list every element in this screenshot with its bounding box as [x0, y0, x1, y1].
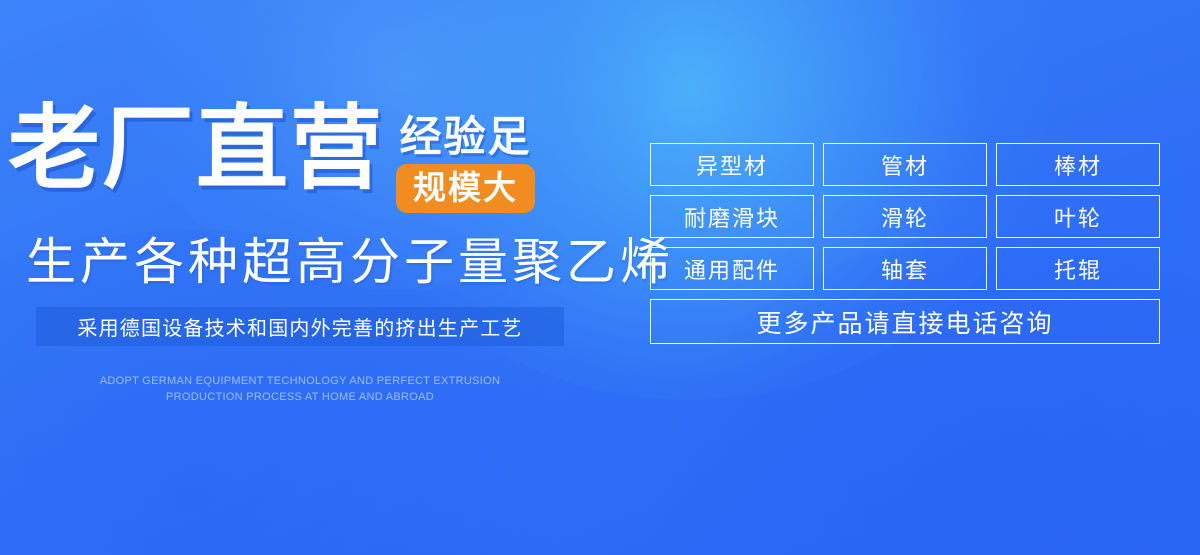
contact-cta-label: 更多产品请直接电话咨询 — [756, 304, 1053, 340]
product-row: 耐磨滑块 滑轮 叶轮 — [650, 195, 1160, 238]
product-chip-2-1[interactable]: 轴套 — [823, 247, 987, 290]
product-chip-label: 轴套 — [881, 253, 929, 285]
product-grid: 异型材 管材 棒材 耐磨滑块 滑轮 叶轮 通用配件 — [650, 143, 1160, 344]
product-row: 异型材 管材 棒材 — [650, 143, 1160, 186]
product-chip-2-0[interactable]: 通用配件 — [650, 247, 814, 290]
product-chip-label: 滑轮 — [881, 201, 929, 233]
product-chip-1-2[interactable]: 叶轮 — [996, 195, 1160, 238]
product-chip-label: 耐磨滑块 — [684, 201, 780, 233]
headline-main: 老厂直营 — [8, 104, 384, 194]
badge-experience: 经验足 — [400, 116, 532, 158]
product-chip-0-1[interactable]: 管材 — [823, 143, 987, 186]
product-row: 通用配件 轴套 托辊 — [650, 247, 1160, 290]
product-chip-1-0[interactable]: 耐磨滑块 — [650, 195, 814, 238]
english-subtitle-line-1: ADOPT GERMAN EQUIPMENT TECHNOLOGY AND PE… — [36, 374, 564, 390]
product-chip-label: 异型材 — [696, 149, 768, 181]
product-chip-0-2[interactable]: 棒材 — [996, 143, 1160, 186]
product-chip-label: 棒材 — [1054, 149, 1102, 181]
promo-banner: 老厂直营 经验足 规模大 生产各种超高分子量聚乙烯 采用德国设备技术和国内外完善… — [0, 0, 1200, 555]
product-chip-1-1[interactable]: 滑轮 — [823, 195, 987, 238]
tagline-band: 采用德国设备技术和国内外完善的挤出生产工艺 — [36, 307, 564, 346]
product-chip-0-0[interactable]: 异型材 — [650, 143, 814, 186]
product-chip-2-2[interactable]: 托辊 — [996, 247, 1160, 290]
headline-row: 老厂直营 经验足 规模大 — [8, 104, 535, 213]
english-subtitle-line-2: PRODUCTION PROCESS AT HOME AND ABROAD — [36, 390, 564, 406]
product-chip-label: 通用配件 — [684, 253, 780, 285]
product-chip-label: 管材 — [881, 149, 929, 181]
english-subtitle: ADOPT GERMAN EQUIPMENT TECHNOLOGY AND PE… — [36, 374, 564, 406]
headline-section: 老厂直营 经验足 规模大 生产各种超高分子量聚乙烯 采用德国设备技术和国内外完善… — [0, 0, 620, 555]
subheadline: 生产各种超高分子量聚乙烯 — [26, 237, 674, 287]
product-chip-label: 叶轮 — [1054, 201, 1102, 233]
headline-badges: 经验足 规模大 — [396, 116, 535, 213]
product-chip-label: 托辊 — [1054, 253, 1102, 285]
badge-scale-pill: 规模大 — [396, 164, 535, 213]
contact-cta-button[interactable]: 更多产品请直接电话咨询 — [650, 299, 1160, 344]
tagline-text: 采用德国设备技术和国内外完善的挤出生产工艺 — [77, 312, 522, 341]
